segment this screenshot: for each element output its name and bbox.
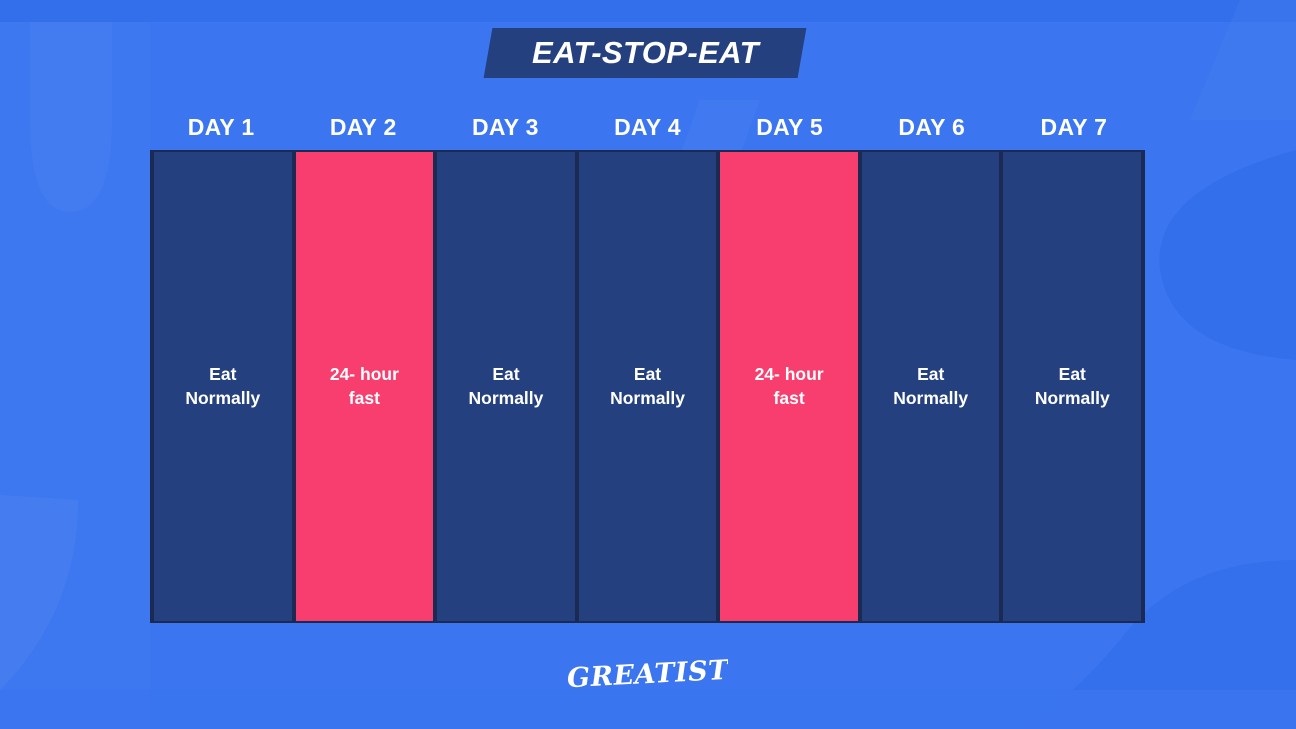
weekly-schedule-grid: Eat Normally 24- hour fast Eat Normally …	[150, 150, 1145, 623]
day-header-2: DAY 2	[292, 109, 434, 145]
day-column-4: Eat Normally	[577, 152, 719, 621]
day-header-4: DAY 4	[576, 109, 718, 145]
brand-logo: GREATIST	[0, 650, 1296, 700]
day-column-2-label: 24- hour fast	[326, 363, 403, 410]
day-header-5: DAY 5	[719, 109, 861, 145]
day-column-2: 24- hour fast	[294, 152, 436, 621]
day-header-3: DAY 3	[434, 109, 576, 145]
title-banner: EAT-STOP-EAT	[484, 28, 807, 78]
page-title: EAT-STOP-EAT	[532, 35, 759, 71]
infographic-canvas: EAT-STOP-EAT DAY 1 DAY 2 DAY 3 DAY 4 DAY…	[0, 0, 1296, 729]
day-header-1: DAY 1	[150, 109, 292, 145]
day-header-6: DAY 6	[861, 109, 1003, 145]
day-column-5: 24- hour fast	[718, 152, 860, 621]
day-column-1: Eat Normally	[152, 152, 294, 621]
day-column-4-label: Eat Normally	[606, 363, 689, 410]
day-column-7-label: Eat Normally	[1031, 363, 1114, 410]
day-header-7: DAY 7	[1003, 109, 1145, 145]
brand-name: GREATIST	[568, 655, 728, 695]
day-column-7: Eat Normally	[1001, 152, 1143, 621]
day-column-6: Eat Normally	[860, 152, 1002, 621]
day-column-1-label: Eat Normally	[181, 363, 264, 410]
day-column-3-label: Eat Normally	[465, 363, 548, 410]
day-header-row: DAY 1 DAY 2 DAY 3 DAY 4 DAY 5 DAY 6 DAY …	[150, 109, 1145, 145]
day-column-5-label: 24- hour fast	[751, 363, 828, 410]
day-column-3: Eat Normally	[435, 152, 577, 621]
background-shape-top-band	[0, 0, 1296, 22]
greatist-wordmark-icon: GREATIST	[568, 650, 728, 696]
day-column-6-label: Eat Normally	[889, 363, 972, 410]
